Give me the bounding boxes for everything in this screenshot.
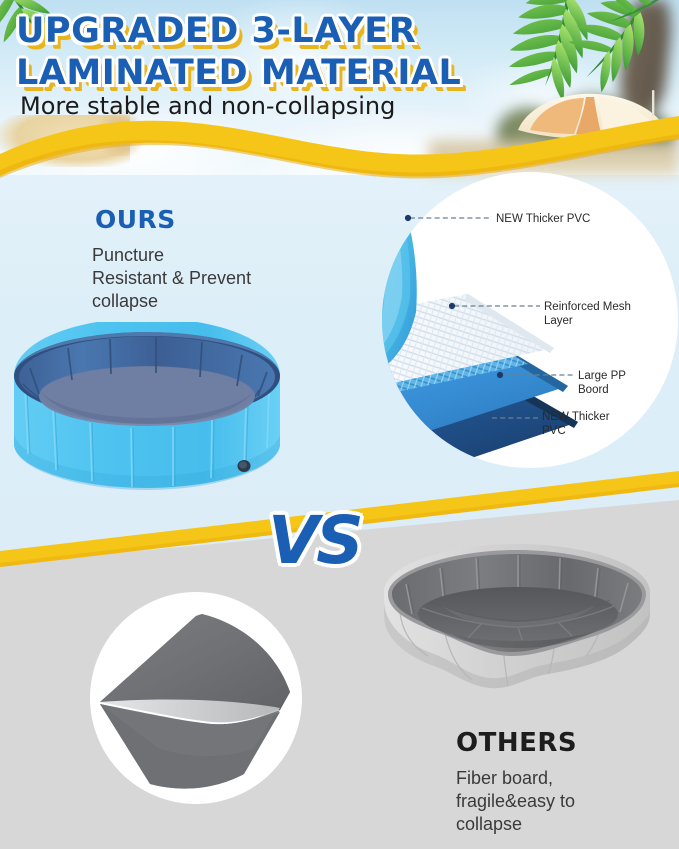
gray-pool-svg xyxy=(372,528,662,720)
others-heading: OTHERS xyxy=(456,728,577,758)
callout-label-top-pvc: NEW Thicker PVC xyxy=(496,213,590,227)
callout-label-mesh: Reinforced Mesh Layer xyxy=(544,301,631,328)
others-description: Fiber board, fragile&easy to collapse xyxy=(456,767,671,836)
callout-dot xyxy=(497,372,503,378)
ours-description: Puncture Resistant & Prevent collapse xyxy=(92,244,307,313)
callout-label-bottom-pvc: NEW Thicker PVC xyxy=(542,411,610,438)
gray-sheet-svg xyxy=(90,592,302,804)
layer-callouts: NEW Thicker PVC Reinforced Mesh Layer La… xyxy=(382,172,678,468)
layer-diagram-circle: NEW Thicker PVC Reinforced Mesh Layer La… xyxy=(382,172,678,468)
page-subtitle: More stable and non-collapsing xyxy=(20,92,395,120)
callout-label-pp-board: Large PP Boord xyxy=(578,370,626,397)
pool-ours-illustration xyxy=(6,322,288,512)
material-sheet-circle-others xyxy=(90,592,302,804)
callout-dot xyxy=(449,303,455,309)
page-title: UPGRADED 3-LAYER LAMINATED MATERIAL xyxy=(16,10,516,94)
callout-dot xyxy=(405,215,411,221)
vs-badge: VS xyxy=(268,502,361,579)
pool-others-illustration xyxy=(372,528,662,720)
infographic-canvas: UPGRADED 3-LAYER LAMINATED MATERIAL More… xyxy=(0,0,679,849)
blue-pool-svg xyxy=(6,322,288,512)
ours-heading: OURS xyxy=(95,205,176,234)
